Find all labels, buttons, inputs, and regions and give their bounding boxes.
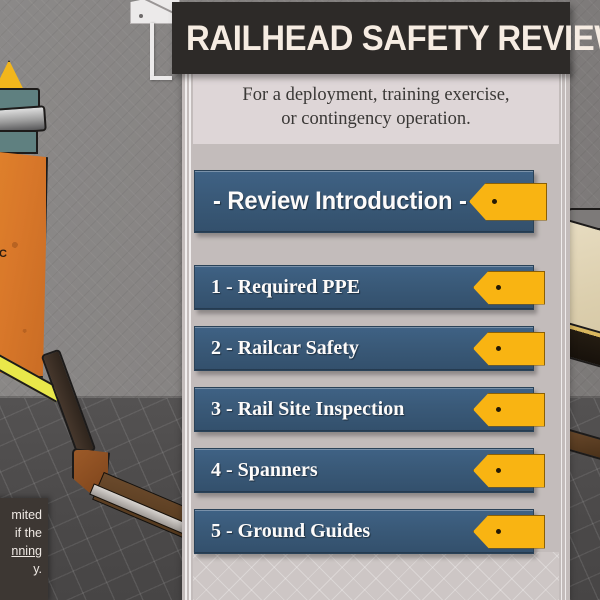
- subtitle-band: For a deployment, training exercise, or …: [193, 62, 559, 144]
- caption-line-3: nning: [0, 542, 42, 560]
- menu-button-rail-site-inspection[interactable]: 3 - Rail Site Inspection: [194, 387, 534, 432]
- panel-left-rule-inner: [189, 62, 191, 600]
- signpost-pole: [150, 23, 154, 80]
- menu-row-spanners: 4 - Spanners: [194, 448, 534, 493]
- menu-row-ground-guides: 5 - Ground Guides: [194, 509, 534, 554]
- caption-line-2: if the: [0, 524, 42, 542]
- panel-right-rule-inner: [565, 62, 567, 600]
- worker-neck: [0, 130, 38, 154]
- page-title: RAILHEAD SAFETY REVIEW: [186, 21, 600, 56]
- signpost-foot: [150, 76, 172, 80]
- menu-button-ground-guides[interactable]: 5 - Ground Guides: [194, 509, 534, 554]
- tag-dot-icon: [496, 529, 501, 534]
- arrow-tag-icon-rail-site-inspection[interactable]: [473, 393, 545, 427]
- menu-button-railcar-safety[interactable]: 2 - Railcar Safety: [194, 326, 534, 371]
- arrow-tag-icon-review-introduction[interactable]: [469, 183, 547, 221]
- panel-left-rule-outer: [185, 62, 187, 600]
- menu-label-ground-guides: 5 - Ground Guides: [211, 520, 370, 543]
- caption-line-4: y.: [0, 560, 42, 578]
- subtitle-line-1: For a deployment, training exercise,: [193, 83, 559, 107]
- tag-dot-icon: [496, 407, 501, 412]
- arrow-tag-icon-ground-guides[interactable]: [473, 515, 545, 549]
- worker-arm: [41, 349, 97, 457]
- menu-row-required-ppe: 1 - Required PPE: [194, 265, 534, 310]
- menu-label-rail-site-inspection: 3 - Rail Site Inspection: [211, 398, 404, 421]
- arrow-tag-icon-spanners[interactable]: [473, 454, 545, 488]
- tag-dot-icon: [496, 346, 501, 351]
- menu-button-required-ppe[interactable]: 1 - Required PPE: [194, 265, 534, 310]
- menu-button-spanners[interactable]: 4 - Spanners: [194, 448, 534, 493]
- title-bar: RAILHEAD SAFETY REVIEW: [172, 2, 570, 74]
- menu-label-railcar-safety: 2 - Railcar Safety: [211, 337, 359, 360]
- safety-vest: [0, 148, 48, 378]
- tag-dot-icon: [496, 468, 501, 473]
- arrow-tag-icon-railcar-safety[interactable]: [473, 332, 545, 366]
- menu-label-review-introduction: - Review Introduction -: [213, 187, 467, 216]
- arrow-tag-icon-required-ppe[interactable]: [473, 271, 545, 305]
- caption-text: mited if the nning y.: [0, 506, 42, 578]
- tag-dot-icon: [492, 199, 497, 204]
- menu-label-spanners: 4 - Spanners: [211, 459, 318, 482]
- caption-callout-box: mited if the nning y.: [0, 498, 48, 600]
- subtitle-text: For a deployment, training exercise, or …: [193, 83, 559, 131]
- menu-row-railcar-safety: 2 - Railcar Safety: [194, 326, 534, 371]
- panel-right-rule-outer: [561, 62, 563, 600]
- tag-dot-icon: [496, 285, 501, 290]
- menu-label-required-ppe: 1 - Required PPE: [211, 276, 360, 299]
- signpost-bolt-dot: [139, 14, 143, 18]
- caption-line-1: mited: [0, 506, 42, 524]
- navigation-menu: - Review Introduction - 1 - Required PPE…: [194, 170, 534, 570]
- menu-button-review-introduction[interactable]: - Review Introduction -: [194, 170, 534, 233]
- vest-trac-label: T.R.A.C: [0, 248, 52, 260]
- menu-row-rail-site-inspection: 3 - Rail Site Inspection: [194, 387, 534, 432]
- subtitle-line-2: or contingency operation.: [193, 107, 559, 131]
- menu-row-review-introduction: - Review Introduction -: [194, 170, 534, 233]
- worker-character-illustration: T.R.A.C: [0, 60, 94, 480]
